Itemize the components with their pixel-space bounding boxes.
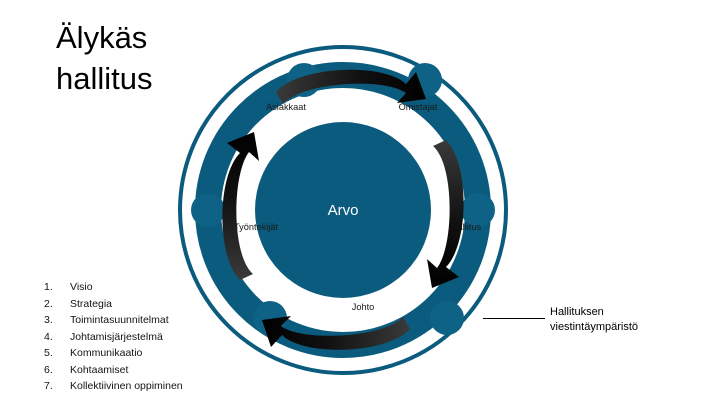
callout-leader-line [483,318,545,319]
stakeholder-label-tyontekijat: Työntekijät [234,222,278,232]
steps-list: 1. Visio 2. Strategia 3. Toimintasuunnit… [44,279,183,395]
list-item-number: 2. [44,296,70,313]
list-item: 3. Toimintasuunnitelmat [44,312,183,329]
stakeholder-label-johto: Johto [352,302,374,312]
list-item: 2. Strategia [44,296,183,313]
list-item-label: Johtamisjärjestelmä [70,329,163,346]
list-item-number: 5. [44,345,70,362]
list-item-number: 3. [44,312,70,329]
stakeholder-label-omistajat: Omistajat [399,102,438,112]
list-item: 5. Kommunikaatio [44,345,183,362]
list-item: 1. Visio [44,279,183,296]
list-item-number: 7. [44,378,70,395]
list-item: 4. Johtamisjärjestelmä [44,329,183,346]
list-item-number: 6. [44,362,70,379]
list-item-label: Kohtaamiset [70,362,128,379]
slide-canvas: Älykäs hallitus 1. Visio 2. Strategia 3.… [0,0,720,405]
callout-label: Hallituksen viestintäympäristö [550,305,638,335]
list-item-label: Strategia [70,296,112,313]
list-item-number: 4. [44,329,70,346]
list-item: 6. Kohtaamiset [44,362,183,379]
core-label: Arvo [328,202,359,219]
cycle-diagram: Arvo Hallituksen työpajat Asiakkaat Omis… [178,0,508,412]
stakeholder-label-asiakkaat: Asiakkaat [266,102,306,112]
list-item: 7. Kollektiivinen oppiminen [44,378,183,395]
list-item-label: Kommunikaatio [70,345,142,362]
list-item-label: Visio [70,279,93,296]
list-item-label: Kollektiivinen oppiminen [70,378,183,395]
list-item-number: 1. [44,279,70,296]
list-item-label: Toimintasuunnitelmat [70,312,169,329]
